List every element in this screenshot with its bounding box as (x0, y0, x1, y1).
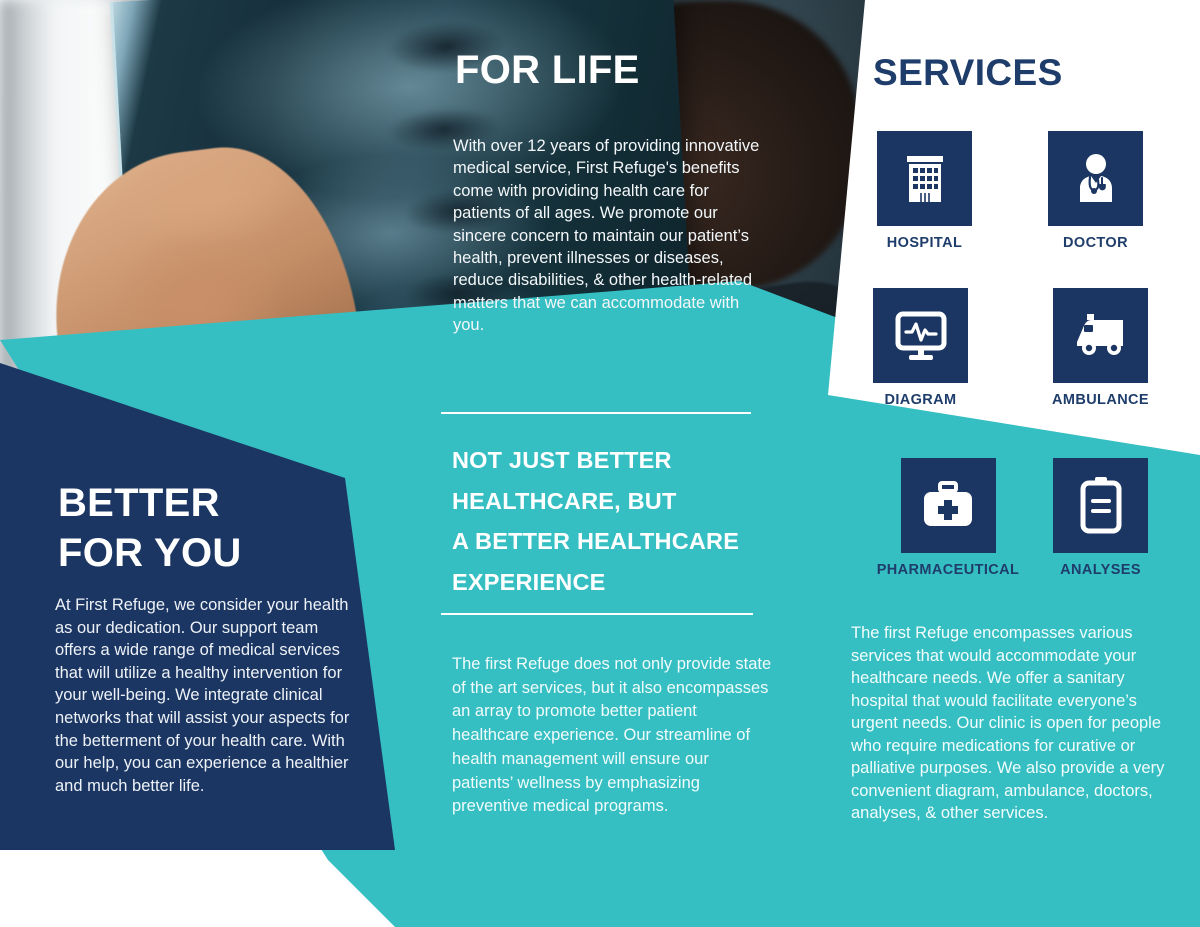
doctor-stethoscope-icon (1048, 131, 1143, 226)
service-item-hospital[interactable]: HOSPITAL (862, 131, 987, 251)
service-item-pharmaceutical[interactable]: PHARMACEUTICAL (868, 458, 1028, 578)
center-divider-top (441, 412, 751, 414)
better-for-you-body: At First Refuge, we consider your health… (55, 594, 363, 797)
service-label: PHARMACEUTICAL (868, 562, 1028, 578)
better-for-you-heading-line-1: BETTER (58, 478, 388, 528)
service-item-analyses[interactable]: ANALYSES (1038, 458, 1163, 578)
service-label: DOCTOR (1033, 235, 1158, 251)
better-for-you-heading: BETTER FOR YOU (58, 478, 388, 578)
service-item-ambulance[interactable]: AMBULANCE (1038, 288, 1163, 408)
services-heading: SERVICES (873, 52, 1063, 94)
service-label: ANALYSES (1038, 562, 1163, 578)
experience-body: The first Refuge does not only provide s… (452, 653, 772, 819)
service-item-diagram[interactable]: DIAGRAM (858, 288, 983, 408)
services-body: The first Refuge encompasses various ser… (851, 622, 1171, 825)
service-item-doctor[interactable]: DOCTOR (1033, 131, 1158, 251)
for-life-heading: FOR LIFE (455, 48, 795, 92)
experience-heading-line-2: HEALTHCARE, BUT (452, 481, 782, 522)
service-label: AMBULANCE (1038, 392, 1163, 408)
experience-heading-line-3: A BETTER HEALTHCARE (452, 521, 782, 562)
monitor-heartbeat-icon (873, 288, 968, 383)
clipboard-report-icon (1053, 458, 1148, 553)
experience-heading: NOT JUST BETTER HEALTHCARE, BUT A BETTER… (452, 440, 782, 602)
ambulance-van-icon (1053, 288, 1148, 383)
experience-heading-line-4: EXPERIENCE (452, 562, 782, 603)
hospital-building-icon (877, 131, 972, 226)
for-life-body: With over 12 years of providing innovati… (453, 135, 765, 337)
experience-heading-line-1: NOT JUST BETTER (452, 440, 782, 481)
better-for-you-heading-line-2: FOR YOU (58, 528, 388, 578)
service-label: DIAGRAM (858, 392, 983, 408)
brochure-page: FOR LIFE With over 12 years of providing… (0, 0, 1200, 927)
center-divider-bottom (441, 613, 753, 615)
service-label: HOSPITAL (862, 235, 987, 251)
medical-bag-cross-icon (901, 458, 996, 553)
